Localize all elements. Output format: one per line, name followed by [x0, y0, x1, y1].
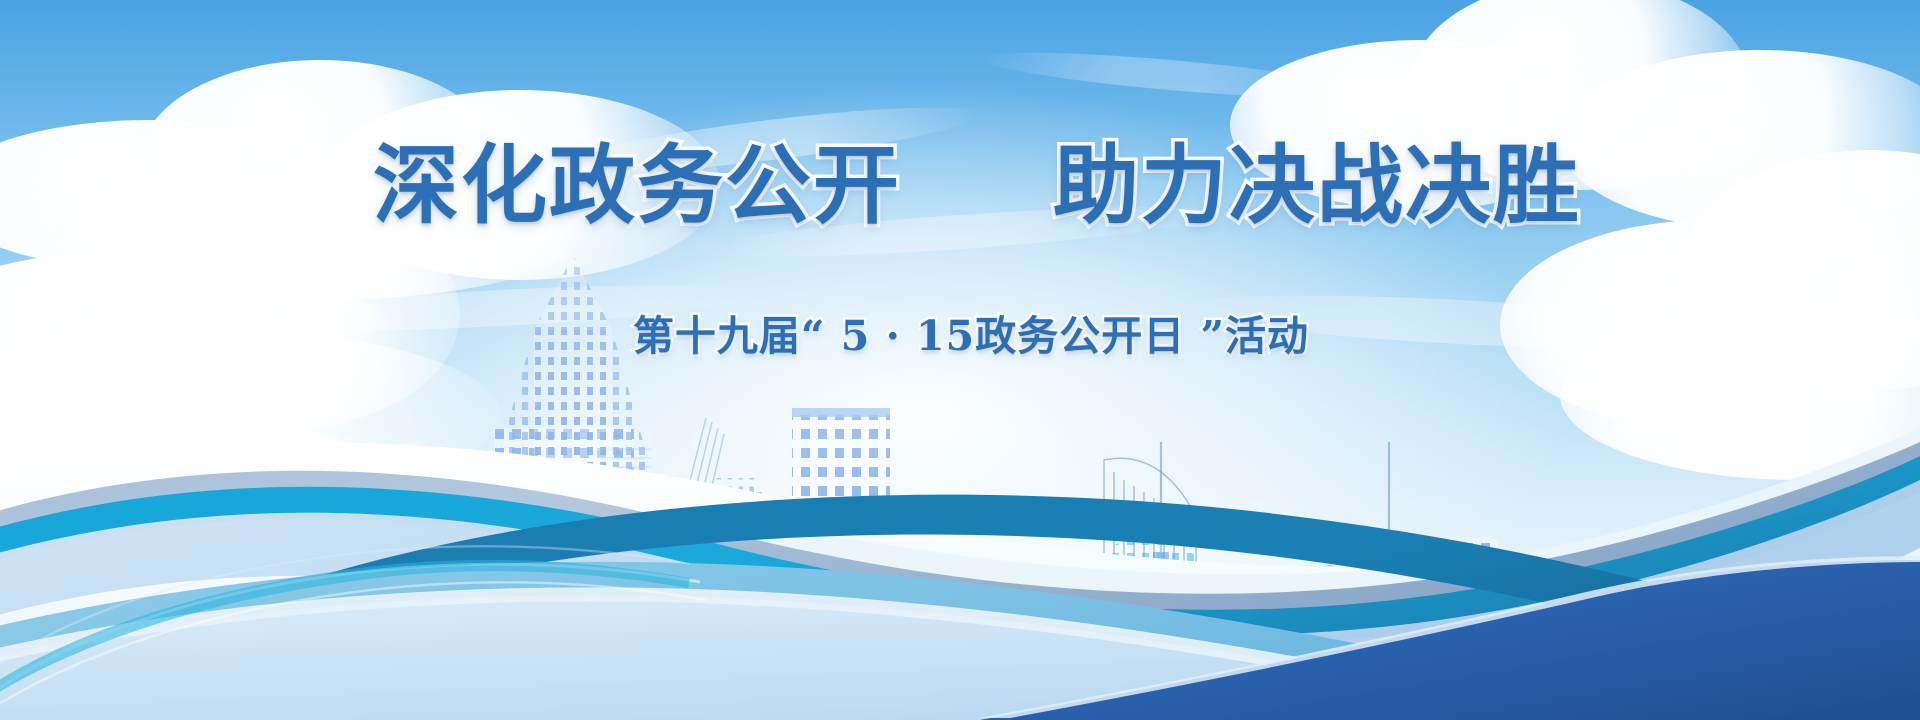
wave-graphics: [0, 320, 1920, 720]
banner-root: 深化政务公开 助力决战决胜 第十九届“ 5 · 15政务公开日 ”活动: [0, 0, 1920, 720]
